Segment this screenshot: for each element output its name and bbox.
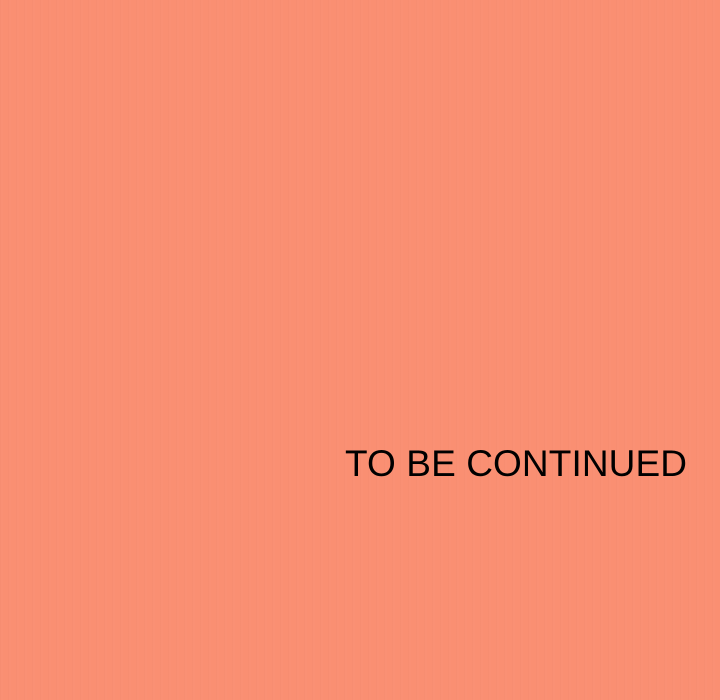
screen-canvas: TO BE CONTINUED bbox=[0, 0, 720, 700]
to-be-continued-caption: TO BE CONTINUED bbox=[345, 443, 687, 484]
